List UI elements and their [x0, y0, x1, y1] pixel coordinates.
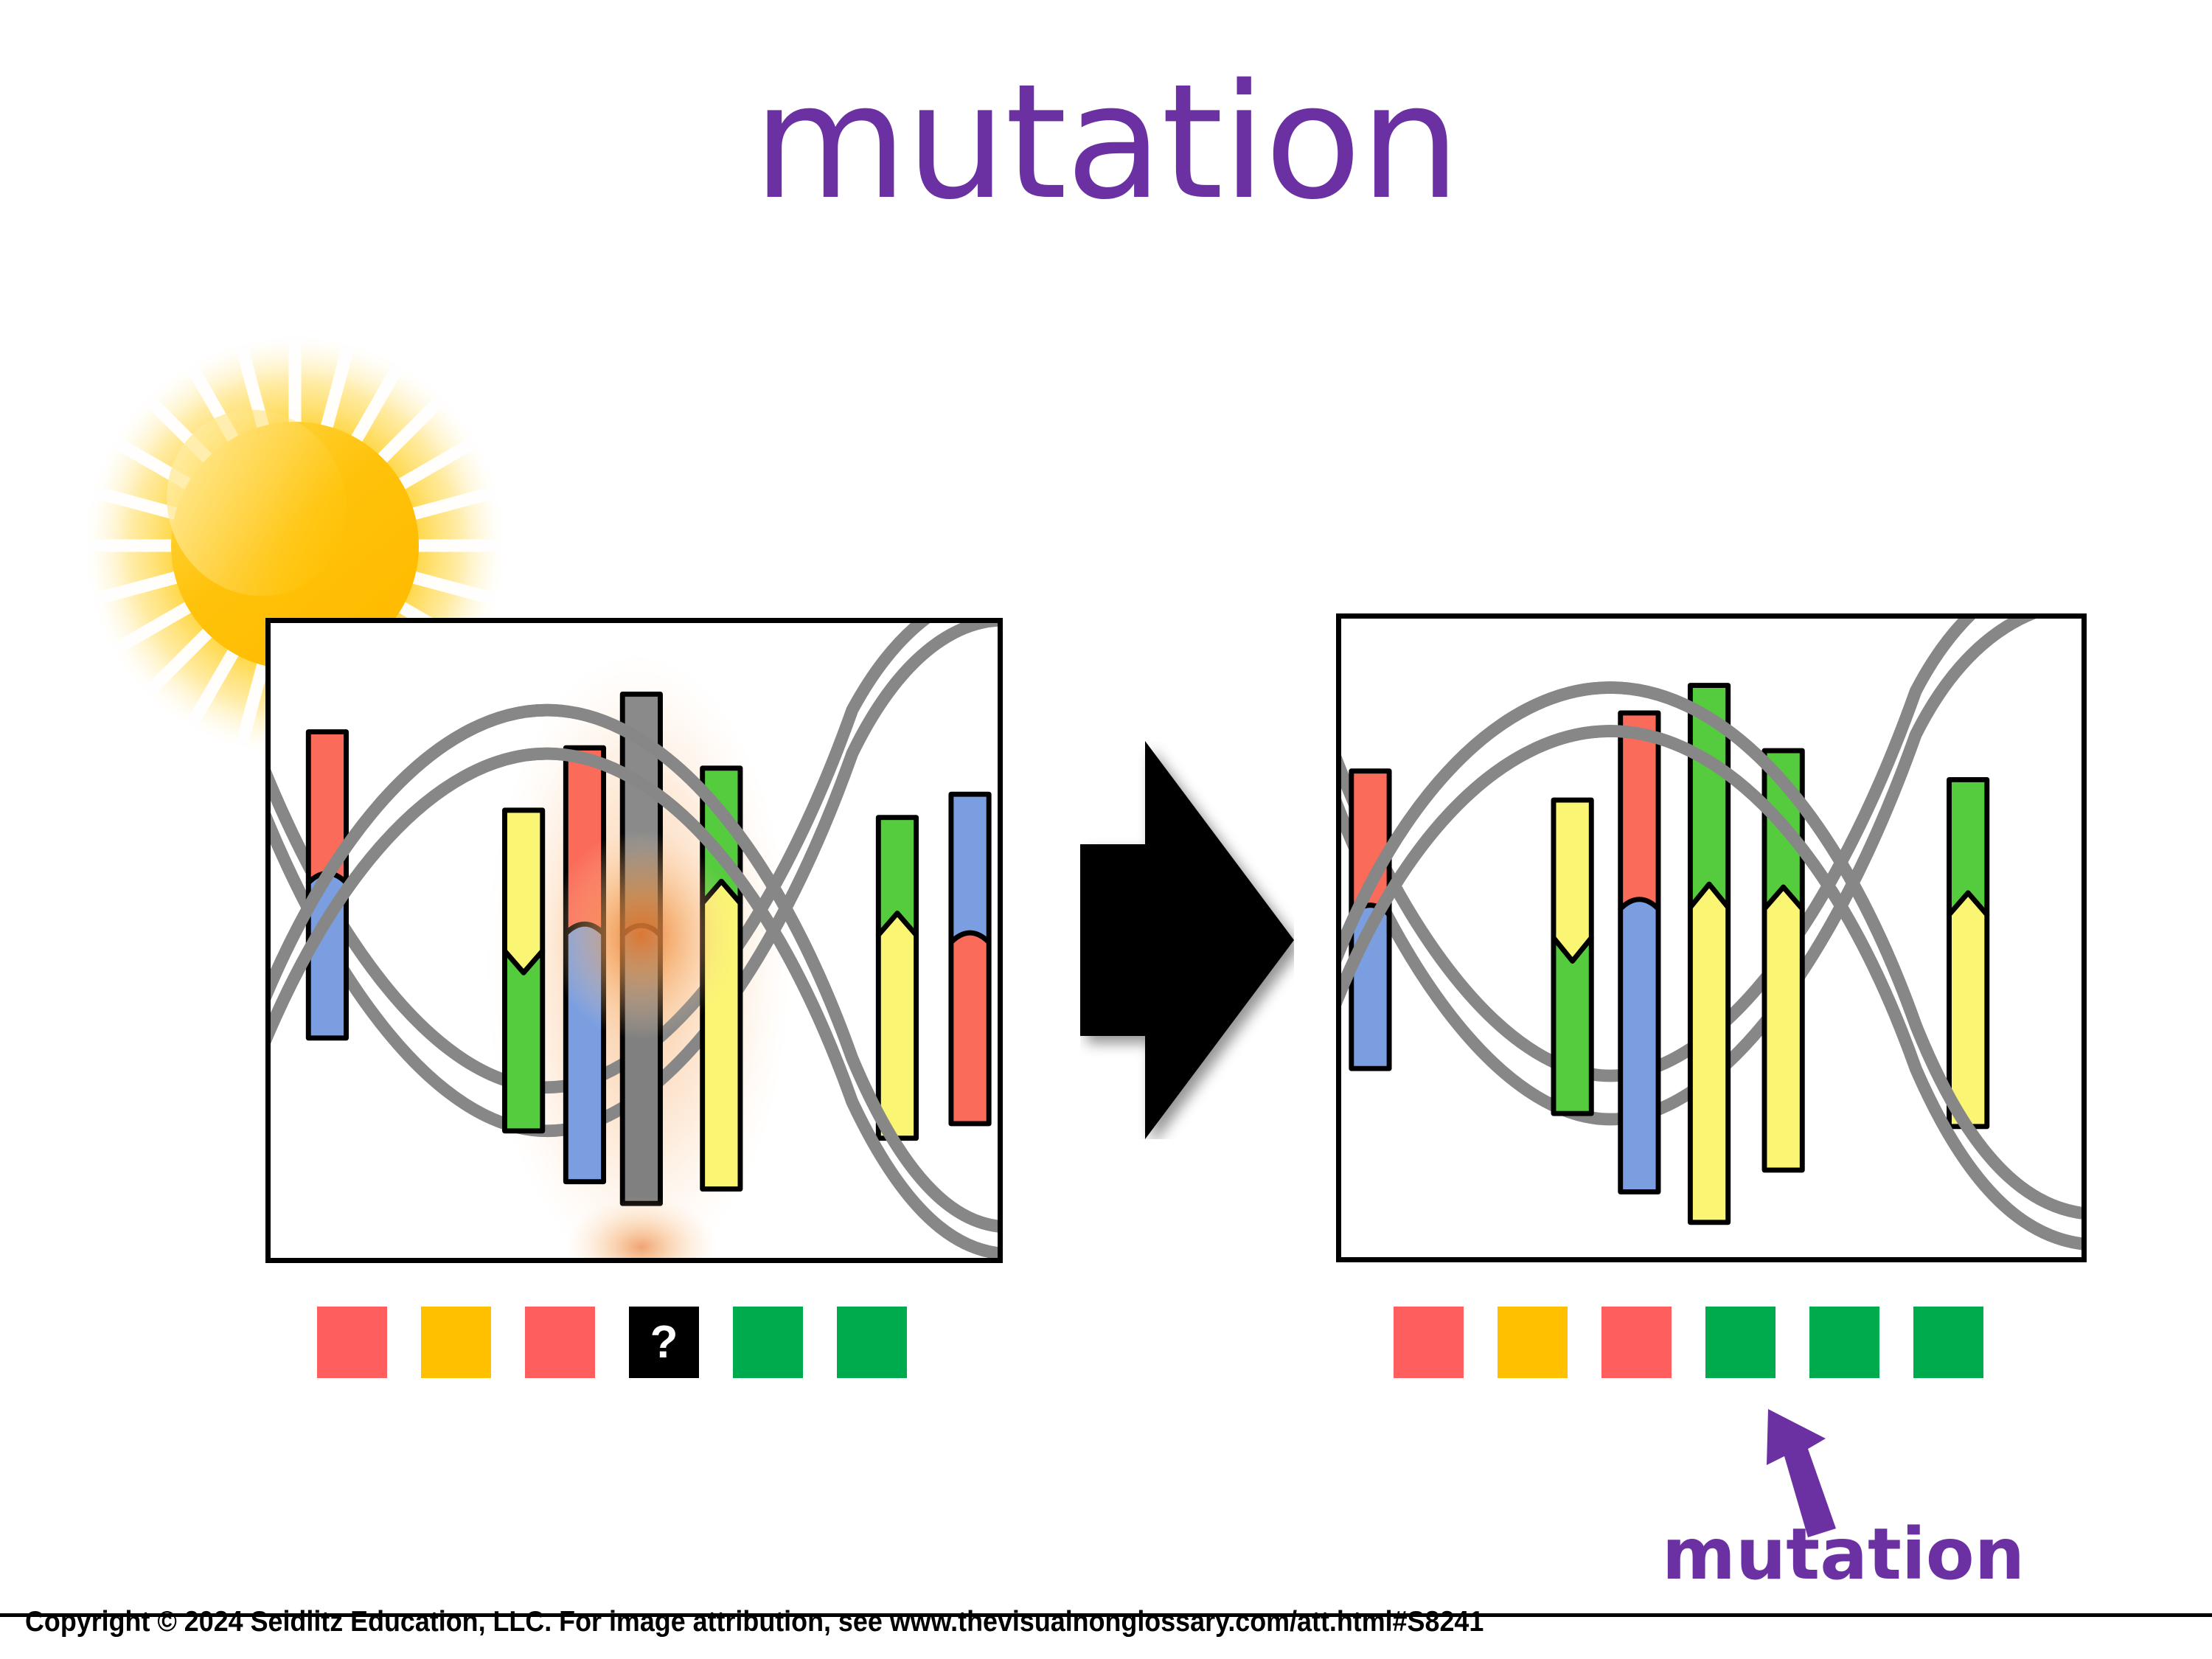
- codon-square: [525, 1307, 595, 1378]
- codon-square: [1394, 1307, 1464, 1378]
- page-title: mutation: [0, 63, 2212, 221]
- codon-squares-after: [1394, 1307, 1983, 1378]
- dna-after-mutation-panel: [1336, 613, 2087, 1262]
- codon-square: [317, 1307, 387, 1378]
- slide-canvas: mutation: [0, 0, 2212, 1659]
- codon-square: [1809, 1307, 1879, 1378]
- codon-square: [1601, 1307, 1672, 1378]
- codon-square: [421, 1307, 491, 1378]
- codon-square-mutated: [1705, 1307, 1775, 1378]
- mutation-callout-label: mutation: [1607, 1519, 2079, 1590]
- copyright-text: Copyright © 2024 Seidlitz Education, LLC…: [25, 1606, 1484, 1638]
- codon-square: [1498, 1307, 1568, 1378]
- codon-square: [733, 1307, 803, 1378]
- codon-squares-before: ?: [317, 1307, 907, 1378]
- codon-square-unknown: ?: [629, 1307, 699, 1378]
- codon-square: [1913, 1307, 1983, 1378]
- question-mark-glyph: ?: [650, 1320, 678, 1366]
- dna-before-mutation-panel: [265, 618, 1003, 1263]
- codon-square: [837, 1307, 907, 1378]
- right-block-arrow-icon: [1080, 741, 1294, 1139]
